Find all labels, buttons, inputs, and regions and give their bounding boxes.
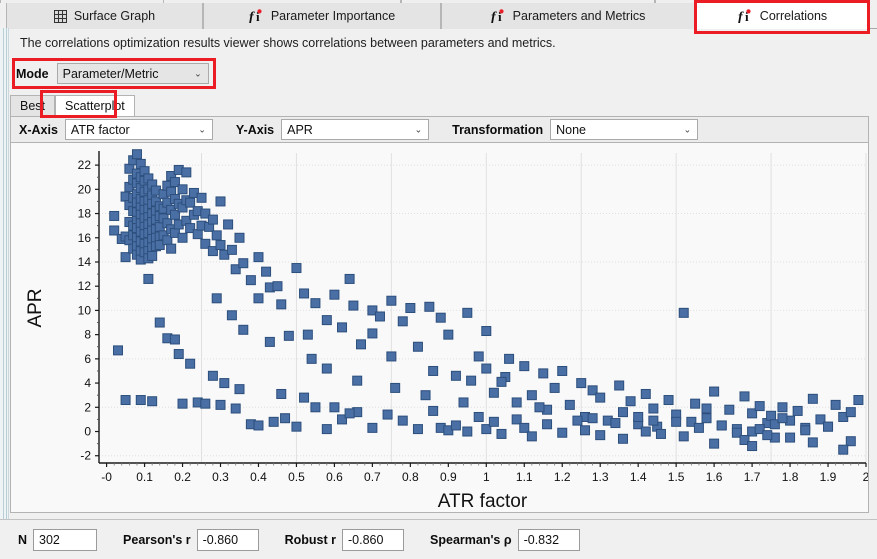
data-point	[277, 300, 286, 309]
data-point	[235, 385, 244, 394]
data-point	[618, 434, 627, 443]
data-point	[588, 414, 597, 423]
y-axis-tick-label: 8	[84, 328, 91, 342]
data-point	[231, 404, 240, 413]
chevron-down-icon: ⌄	[194, 69, 202, 78]
data-point	[322, 316, 331, 325]
data-point	[398, 317, 407, 326]
data-point	[763, 431, 772, 440]
x-axis-tick-label: 0.8	[402, 470, 419, 484]
data-point	[254, 253, 263, 262]
data-point	[672, 417, 681, 426]
description-text: The correlations optimization results vi…	[20, 36, 556, 50]
data-point	[846, 408, 855, 417]
data-point	[679, 308, 688, 317]
data-point	[451, 421, 460, 430]
pearsons-r-label: Pearson's r	[123, 533, 191, 547]
data-point	[113, 346, 122, 355]
data-point	[717, 421, 726, 430]
x-axis-tick-label: 1.2	[554, 470, 571, 484]
data-point	[512, 415, 521, 424]
transformation-label: Transformation	[452, 123, 543, 137]
svg-text:f: f	[738, 10, 744, 23]
y-axis-select-value: APR	[287, 123, 313, 137]
data-point	[330, 403, 339, 412]
data-point	[649, 404, 658, 413]
data-point	[182, 168, 191, 177]
data-point	[197, 193, 206, 202]
x-axis-tick-label: 1.7	[744, 470, 761, 484]
data-point	[656, 429, 665, 438]
data-point	[702, 414, 711, 423]
data-point	[254, 421, 263, 430]
data-point	[702, 404, 711, 413]
data-point	[216, 400, 225, 409]
data-point	[649, 416, 658, 425]
mode-label: Mode	[16, 67, 49, 81]
data-point	[740, 392, 749, 401]
x-axis-tick-label: 0.3	[212, 470, 229, 484]
data-point	[413, 425, 422, 434]
data-point	[565, 400, 574, 409]
x-axis-tick-label: 0.2	[174, 470, 191, 484]
data-point	[573, 416, 582, 425]
data-point	[463, 427, 472, 436]
data-point	[710, 387, 719, 396]
data-point	[121, 396, 130, 405]
x-axis-tick-label: 0.7	[364, 470, 381, 484]
data-point	[227, 245, 236, 254]
data-point	[778, 414, 787, 423]
fi-icon: fi	[249, 9, 264, 23]
data-point	[300, 289, 309, 298]
y-axis-tick-label: 0	[84, 425, 91, 439]
data-point	[767, 411, 776, 420]
y-axis-tick-label: 4	[84, 376, 91, 390]
robust-r-label: Robust r	[285, 533, 336, 547]
data-point	[208, 215, 217, 224]
x-axis-tick-label: 2	[863, 470, 869, 484]
data-point	[186, 359, 195, 368]
data-point	[527, 432, 536, 441]
data-point	[216, 197, 225, 206]
x-axis-tick-label: 0.1	[136, 470, 153, 484]
y-axis-tick-label: 20	[78, 182, 92, 196]
data-point	[520, 362, 529, 371]
data-point	[520, 423, 529, 432]
data-point	[262, 267, 271, 276]
stat-n: N 302	[18, 529, 97, 551]
data-point	[368, 423, 377, 432]
data-point	[581, 426, 590, 435]
scatterplot-panel: -20246810121416182022-00.10.20.30.40.50.…	[10, 143, 869, 513]
data-point	[505, 354, 514, 363]
x-axis-select-value: ATR factor	[71, 123, 130, 137]
data-point	[269, 417, 278, 426]
data-point	[239, 325, 248, 334]
data-point	[801, 426, 810, 435]
tab-label: Parameter Importance	[271, 9, 395, 23]
data-point	[330, 290, 339, 299]
data-point	[444, 330, 453, 339]
data-point	[136, 396, 145, 405]
data-point	[679, 432, 688, 441]
correlations-viewer: Surface GraphfiParameter ImportancefiPar…	[0, 0, 877, 559]
x-axis-tick-label: 0.6	[326, 470, 343, 484]
data-point	[618, 408, 627, 417]
stat-spearmans-rho: Spearman's ρ -0.832	[430, 529, 580, 551]
data-point	[489, 417, 498, 426]
data-point	[110, 211, 119, 220]
data-point	[281, 414, 290, 423]
data-point	[482, 327, 491, 336]
y-axis-label: Y-Axis	[236, 123, 274, 137]
data-point	[846, 437, 855, 446]
data-point	[694, 423, 703, 432]
data-point	[144, 274, 153, 283]
mode-select[interactable]: Parameter/Metric ⌄	[57, 63, 209, 84]
data-point	[300, 393, 309, 402]
data-point	[539, 369, 548, 378]
data-point	[558, 366, 567, 375]
surface-graph-icon	[54, 10, 67, 23]
data-point	[212, 294, 221, 303]
data-point	[345, 409, 354, 418]
data-point	[273, 282, 282, 291]
data-point	[512, 398, 521, 407]
data-point	[186, 198, 195, 207]
left-gutter-strip	[0, 28, 9, 559]
data-point	[148, 251, 157, 260]
data-point	[254, 294, 263, 303]
data-point	[793, 406, 802, 415]
transformation-select[interactable]: None ⌄	[550, 119, 698, 140]
fi-icon: fi	[491, 9, 506, 23]
tab-parameter-importance[interactable]: fiParameter Importance	[203, 3, 441, 29]
data-point	[292, 422, 301, 431]
data-point	[535, 403, 544, 412]
data-point	[459, 398, 468, 407]
y-axis-tick-label: 6	[84, 352, 91, 366]
statistics-bar: N 302 Pearson's r -0.860 Robust r -0.860…	[0, 519, 877, 559]
data-point	[178, 233, 187, 242]
x-axis-tick-label: 1.5	[668, 470, 685, 484]
tab-label: Surface Graph	[74, 9, 155, 23]
data-point	[596, 393, 605, 402]
data-point	[429, 406, 438, 415]
data-point	[357, 340, 366, 349]
data-point	[178, 185, 187, 194]
data-point	[391, 383, 400, 392]
fi-icon: fi	[738, 9, 753, 23]
data-point	[110, 226, 119, 235]
data-point	[641, 389, 650, 398]
x-axis-tick-label: -0	[101, 470, 112, 484]
data-point	[174, 350, 183, 359]
y-axis-tick-label: -2	[80, 449, 91, 463]
y-axis-tick-label: 2	[84, 400, 91, 414]
x-axis-tick-label: 0.9	[440, 470, 457, 484]
data-point	[577, 379, 586, 388]
data-point	[246, 276, 255, 285]
data-point	[831, 400, 840, 409]
tab-best[interactable]: Best	[10, 95, 55, 116]
data-point	[691, 399, 700, 408]
data-point	[748, 442, 757, 451]
data-point	[664, 396, 673, 405]
x-axis-tick-label: 1.4	[630, 470, 647, 484]
data-point	[710, 439, 719, 448]
data-point	[121, 253, 130, 262]
data-point	[808, 438, 817, 447]
x-axis-tick-label: 0.5	[288, 470, 305, 484]
x-axis-select[interactable]: ATR factor ⌄	[65, 119, 213, 140]
pearsons-r-value[interactable]: -0.860	[197, 529, 259, 551]
data-point	[543, 420, 552, 429]
data-point	[839, 445, 848, 454]
data-point	[212, 231, 221, 240]
y-axis-tick-label: 16	[78, 231, 92, 245]
data-point	[201, 399, 210, 408]
chevron-down-icon: ⌄	[198, 125, 206, 134]
data-point	[615, 381, 624, 390]
data-point	[303, 330, 312, 339]
data-point	[216, 241, 225, 250]
data-point	[277, 389, 286, 398]
data-point	[808, 394, 817, 403]
data-point	[436, 313, 445, 322]
data-point	[132, 150, 141, 159]
data-point	[626, 397, 635, 406]
data-point	[155, 318, 164, 327]
data-point	[641, 427, 650, 436]
data-point	[755, 402, 764, 411]
data-point	[527, 391, 536, 400]
data-point	[220, 379, 229, 388]
data-point	[292, 264, 301, 273]
data-point	[474, 412, 483, 421]
data-point	[482, 364, 491, 373]
data-point	[387, 352, 396, 361]
data-point	[421, 391, 430, 400]
data-point	[322, 425, 331, 434]
data-point	[451, 371, 460, 380]
main-tab-bar: Surface GraphfiParameter ImportancefiPar…	[0, 0, 877, 29]
tab-parameters-and-metrics[interactable]: fiParameters and Metrics	[441, 3, 695, 29]
data-point	[406, 304, 415, 313]
x-axis-tick-label: 1.3	[592, 470, 609, 484]
y-axis-tick-label: 10	[78, 303, 92, 317]
data-point	[375, 312, 384, 321]
data-point	[227, 311, 236, 320]
data-point	[265, 337, 274, 346]
data-point	[148, 397, 157, 406]
x-axis-tick-label: 1.1	[516, 470, 533, 484]
data-point	[368, 329, 377, 338]
data-point	[311, 403, 320, 412]
data-point	[349, 301, 358, 310]
x-axis-tick-label: 1.8	[782, 470, 799, 484]
data-point	[425, 302, 434, 311]
data-point	[413, 342, 422, 351]
data-point	[474, 352, 483, 361]
data-point	[170, 335, 179, 344]
x-axis-tick-label: 1.9	[820, 470, 837, 484]
n-value[interactable]: 302	[33, 529, 97, 551]
mode-row: Mode Parameter/Metric ⌄	[16, 63, 209, 84]
data-point	[353, 376, 362, 385]
x-axis-tick-label: 0.4	[250, 470, 267, 484]
data-point	[497, 429, 506, 438]
data-point	[284, 331, 293, 340]
y-axis-tick-label: 18	[78, 207, 92, 221]
stat-robust-r: Robust r -0.860	[285, 529, 404, 551]
tab-label: Correlations	[760, 9, 827, 23]
data-point	[383, 410, 392, 419]
tab-label: Parameters and Metrics	[513, 9, 646, 23]
data-point	[239, 259, 248, 268]
data-point	[338, 323, 347, 332]
data-point	[463, 308, 472, 317]
stat-pearsons-r: Pearson's r -0.860	[123, 529, 259, 551]
data-point	[178, 399, 187, 408]
y-axis-tick-label: 12	[78, 279, 92, 293]
axis-controls-panel: X-Axis ATR factor ⌄ Y-Axis APR ⌄ Transfo…	[10, 116, 869, 143]
tab-correlations[interactable]: fiCorrelations	[695, 3, 870, 29]
x-axis-tick-label: 1.6	[706, 470, 723, 484]
y-axis-tick-label: 22	[78, 158, 92, 172]
scatterplot-chart: -20246810121416182022-00.10.20.30.40.50.…	[11, 143, 869, 512]
svg-text:f: f	[249, 10, 255, 23]
x-axis-title: ATR factor	[438, 491, 528, 512]
chevron-down-icon: ⌄	[684, 125, 692, 134]
data-point	[387, 296, 396, 305]
data-point	[311, 299, 320, 308]
sub-tab-bar: Best Scatterplot	[10, 94, 135, 116]
data-point	[497, 377, 506, 386]
data-point	[193, 230, 202, 239]
svg-text:f: f	[491, 10, 497, 23]
data-point	[854, 396, 863, 405]
data-point	[611, 419, 620, 428]
data-point	[398, 416, 407, 425]
spearmans-rho-value[interactable]: -0.832	[518, 529, 580, 551]
n-label: N	[18, 533, 27, 547]
robust-r-value[interactable]: -0.860	[342, 529, 404, 551]
data-point	[429, 366, 438, 375]
x-axis-tick-label: 1	[483, 470, 490, 484]
chevron-down-icon: ⌄	[415, 125, 423, 134]
y-axis-select[interactable]: APR ⌄	[281, 119, 429, 140]
x-axis-label: X-Axis	[19, 123, 58, 137]
data-point	[307, 354, 316, 363]
data-point	[550, 383, 559, 392]
data-point	[596, 431, 605, 440]
data-point	[208, 371, 217, 380]
data-point	[467, 376, 476, 385]
mode-select-value: Parameter/Metric	[63, 67, 159, 81]
data-point	[725, 405, 734, 414]
data-point	[824, 422, 833, 431]
transformation-select-value: None	[556, 123, 586, 137]
data-point	[345, 274, 354, 283]
spearmans-rho-label: Spearman's ρ	[430, 533, 512, 547]
tab-surface-graph[interactable]: Surface Graph	[6, 3, 203, 29]
data-point	[235, 233, 244, 242]
data-point	[778, 403, 787, 412]
tab-scatterplot[interactable]: Scatterplot	[55, 95, 135, 116]
data-point	[167, 244, 176, 253]
data-point	[558, 428, 567, 437]
y-axis-title: APR	[25, 288, 46, 327]
data-point	[322, 364, 331, 373]
data-point	[224, 220, 233, 229]
y-axis-tick-label: 14	[78, 255, 92, 269]
data-point	[489, 388, 498, 397]
data-point	[634, 412, 643, 421]
data-point	[786, 433, 795, 442]
